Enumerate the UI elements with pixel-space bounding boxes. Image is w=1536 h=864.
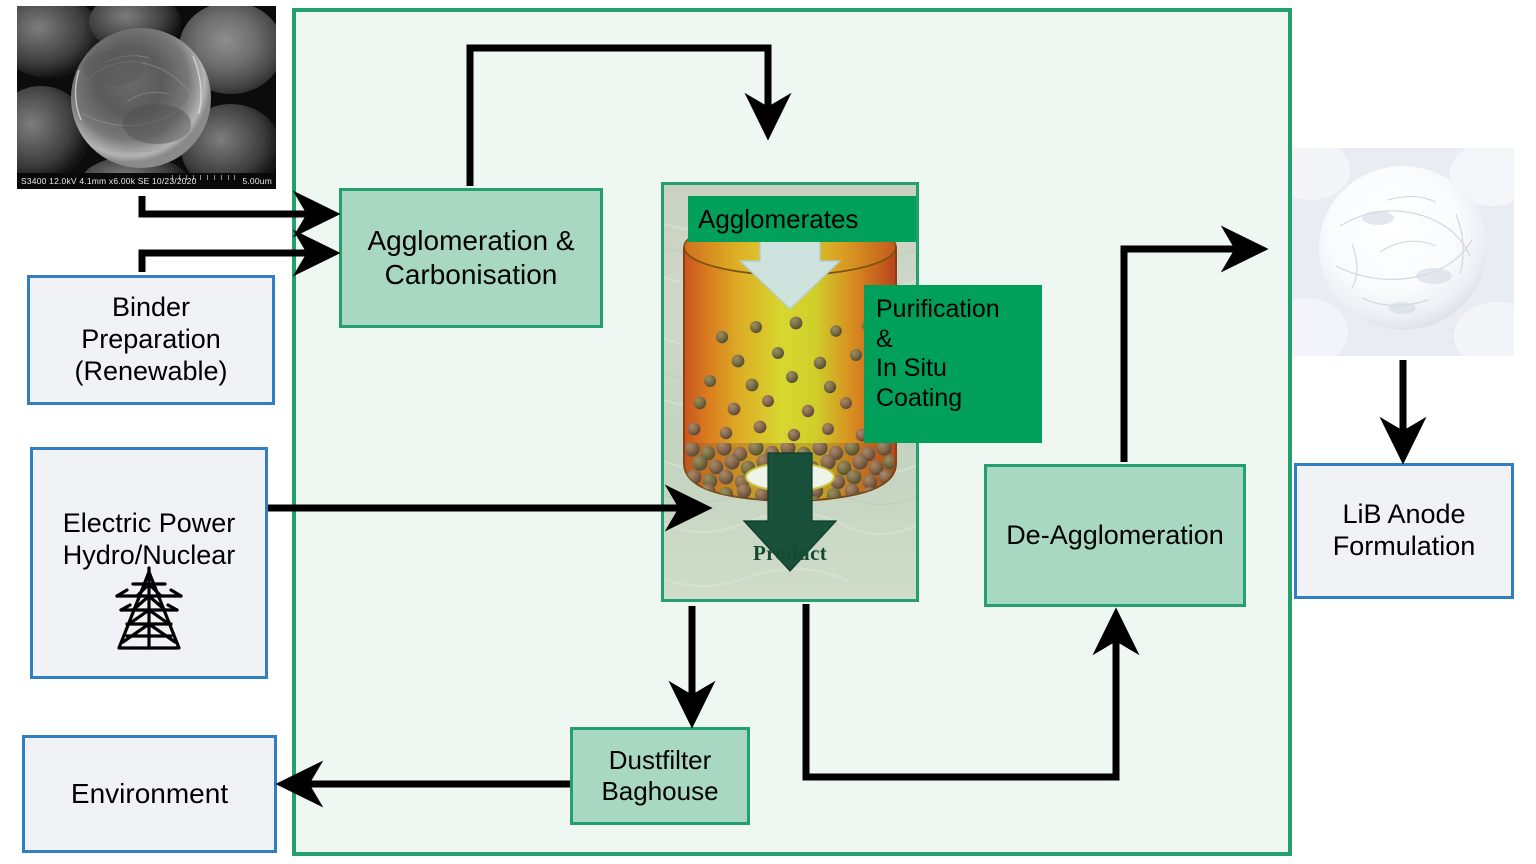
purification-in-situ-coating-tag: Purification & In Situ Coating bbox=[864, 285, 1042, 443]
binder-preparation-label: Binder Preparation (Renewable) bbox=[74, 292, 227, 388]
agglomeration-carbonisation-label: Agglomeration & Carbonisation bbox=[367, 224, 574, 291]
binder-preparation-box[interactable]: Binder Preparation (Renewable) bbox=[27, 275, 275, 405]
dustfilter-baghouse-box[interactable]: Dustfilter Baghouse bbox=[570, 727, 750, 825]
purification-tag-label: Purification & In Situ Coating bbox=[876, 295, 1000, 413]
transmission-tower-icon bbox=[103, 562, 195, 662]
agglomerates-tag: Agglomerates bbox=[688, 196, 917, 242]
dustfilter-baghouse-label: Dustfilter Baghouse bbox=[601, 745, 718, 807]
agglomerates-tag-label: Agglomerates bbox=[698, 204, 858, 235]
sem-micrograph-precursor-particle: S3400 12.0kV 4.1mm x6.00k SE 10/23/2020 … bbox=[17, 6, 276, 189]
sem-caption-left: S3400 12.0kV 4.1mm x6.00k SE 10/23/2020 bbox=[21, 176, 197, 186]
environment-label: Environment bbox=[71, 777, 228, 810]
agglomeration-carbonisation-box[interactable]: Agglomeration & Carbonisation bbox=[339, 188, 603, 328]
sem-caption: S3400 12.0kV 4.1mm x6.00k SE 10/23/2020 … bbox=[17, 173, 276, 189]
sem-caption-scale: 5.00um bbox=[242, 176, 272, 186]
lib-anode-formulation-label: LiB Anode Formulation bbox=[1333, 499, 1476, 563]
product-outlet-label: Product bbox=[664, 541, 916, 566]
environment-box[interactable]: Environment bbox=[22, 735, 277, 853]
diagram-canvas: S3400 12.0kV 4.1mm x6.00k SE 10/23/2020 … bbox=[0, 0, 1536, 864]
electric-power-box[interactable]: Electric Power Hydro/Nuclear bbox=[30, 447, 268, 679]
sem-micrograph-coated-product-particle bbox=[1292, 148, 1514, 356]
de-agglomeration-label: De-Agglomeration bbox=[1006, 519, 1224, 551]
de-agglomeration-box[interactable]: De-Agglomeration bbox=[984, 464, 1246, 607]
lib-anode-formulation-box[interactable]: LiB Anode Formulation bbox=[1294, 463, 1514, 599]
